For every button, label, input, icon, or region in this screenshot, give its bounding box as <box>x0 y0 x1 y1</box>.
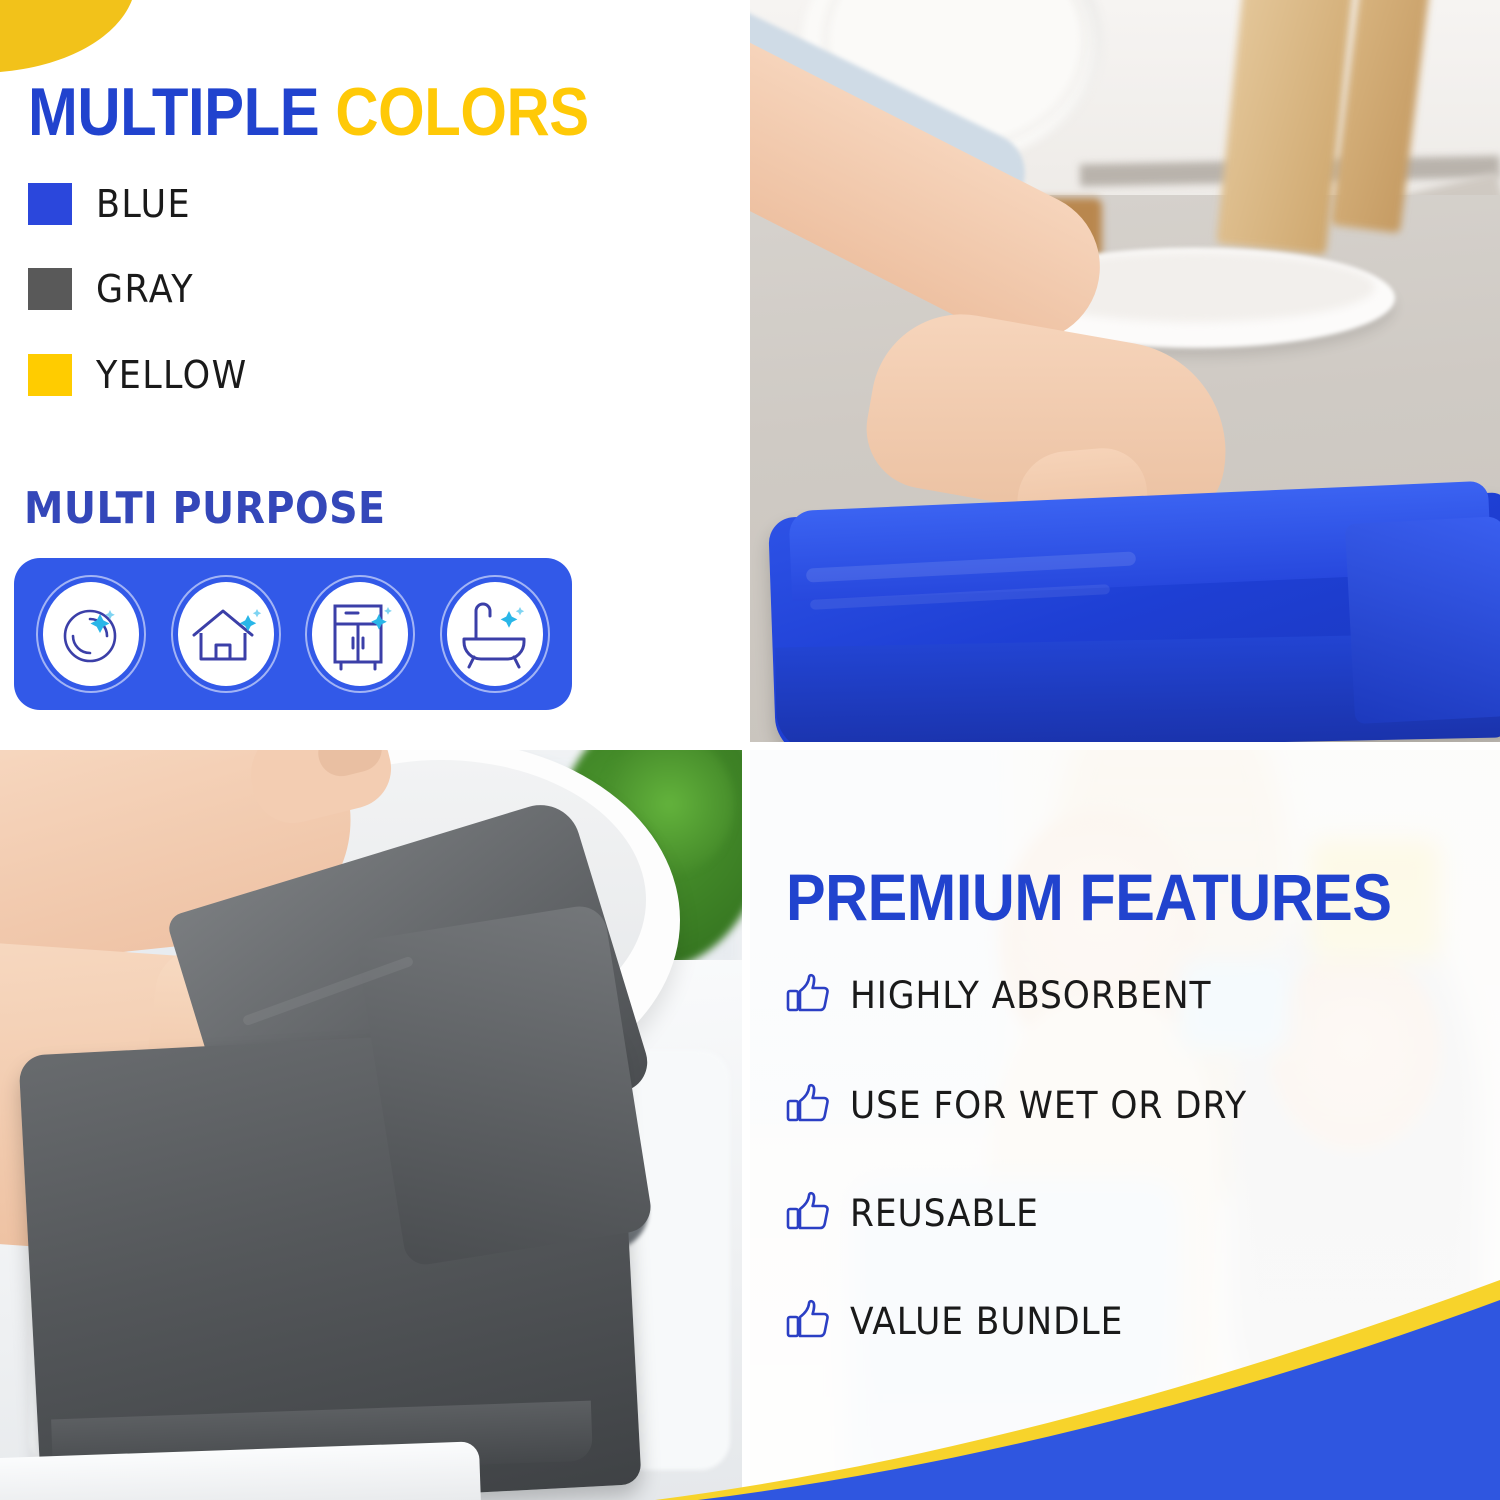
section-subtitle: MULTI PURPOSE <box>24 483 386 534</box>
color-label: BLUE <box>96 182 191 226</box>
list-item: USE FOR WET OR DRY <box>786 1082 1277 1129</box>
panel-premium-features: PREMIUM FEATURES HIGHLY ABSORBENT USE FO… <box>750 750 1500 1500</box>
list-item: HIGHLY ABSORBENT <box>786 972 1239 1019</box>
list-item: GRAY <box>28 267 203 311</box>
title-word-multiple: MULTIPLE <box>28 74 319 150</box>
list-item: REUSABLE <box>786 1190 1053 1237</box>
thumbs-up-icon <box>786 1298 830 1345</box>
thumbs-up-icon <box>786 1082 830 1129</box>
color-swatch-blue <box>28 183 72 225</box>
product-infographic: MULTIPLE COLORS BLUE GRAY YELLOW MULTI P… <box>0 0 1500 1500</box>
list-item: BLUE <box>28 182 199 226</box>
photo-gray-cloth <box>0 750 742 1500</box>
photo-blue-cloth <box>750 0 1500 742</box>
cabinet-sparkle-icon <box>301 571 419 697</box>
thumbs-up-icon <box>786 1190 830 1237</box>
feature-label: USE FOR WET OR DRY <box>850 1084 1247 1127</box>
color-swatch-gray <box>28 268 72 310</box>
features-title: PREMIUM FEATURES <box>786 862 1392 932</box>
bathtub-sparkle-icon <box>436 571 554 697</box>
color-swatch-yellow <box>28 354 72 396</box>
title-word-colors: COLORS <box>335 74 588 150</box>
feature-label: REUSABLE <box>850 1192 1039 1235</box>
multi-purpose-icon-strip <box>14 558 572 710</box>
panel-multiple-colors: MULTIPLE COLORS BLUE GRAY YELLOW MULTI P… <box>0 0 742 742</box>
page-title: MULTIPLE COLORS <box>28 76 589 148</box>
color-label: GRAY <box>96 267 194 311</box>
feature-label: VALUE BUNDLE <box>850 1300 1123 1343</box>
color-label: YELLOW <box>96 353 248 397</box>
feature-label: HIGHLY ABSORBENT <box>850 974 1211 1017</box>
list-item: VALUE BUNDLE <box>786 1298 1144 1345</box>
thumbs-up-icon <box>786 972 830 1019</box>
plate-sparkle-icon <box>32 571 150 697</box>
house-sparkle-icon <box>167 571 285 697</box>
list-item: YELLOW <box>28 353 261 397</box>
